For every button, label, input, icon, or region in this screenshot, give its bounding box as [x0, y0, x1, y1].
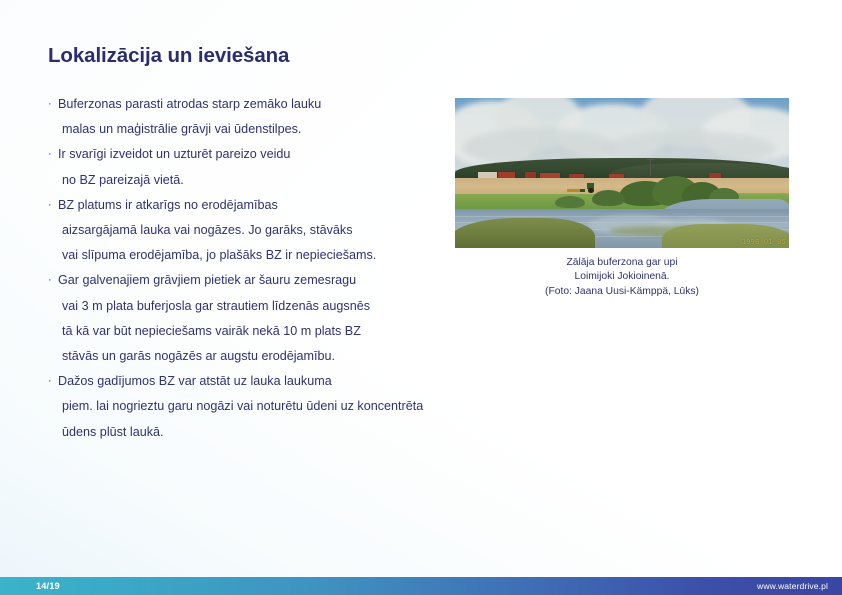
- photo-utility-pole: [650, 158, 651, 176]
- bullet-group: ·BZ platums ir atkarīgs no erodējamības …: [48, 193, 448, 269]
- presentation-slide: Lokalizācija un ieviešana ·Buferzonas pa…: [0, 0, 842, 595]
- bullet-dot-icon: ·: [48, 92, 58, 117]
- bullet-dot-icon: ·: [48, 369, 58, 394]
- bullet-text: Gar galvenajiem grāvjiem pietiek ar šaur…: [58, 273, 356, 287]
- landscape-photo: 1996 01 05: [455, 98, 789, 248]
- photo-caption: Zālāja buferzona gar upi Loimijoki Jokio…: [455, 256, 789, 299]
- caption-line: Loimijoki Jokioinenā.: [455, 270, 789, 284]
- bullet-line: ·BZ platums ir atkarīgs no erodējamības: [48, 193, 448, 218]
- bullet-list: ·Buferzonas parasti atrodas starp zemāko…: [48, 92, 448, 445]
- photo-tractor-front: [580, 189, 585, 192]
- bullet-line-continuation: stāvās un garās nogāzēs ar augstu erodēj…: [48, 344, 448, 369]
- bullet-line: ·Dažos gadījumos BZ var atstāt uz lauka …: [48, 369, 448, 394]
- slide-number: 14/19: [36, 581, 60, 591]
- bullet-dot-icon: ·: [48, 193, 58, 218]
- caption-line: Zālāja buferzona gar upi: [455, 256, 789, 270]
- photo-shrub: [555, 196, 585, 208]
- bullet-text: Dažos gadījumos BZ var atstāt uz lauka l…: [58, 374, 332, 388]
- bullet-line-continuation: tā kā var būt nepieciešams vairāk nekā 1…: [48, 319, 448, 344]
- bullet-group: ·Dažos gadījumos BZ var atstāt uz lauka …: [48, 369, 448, 445]
- photo-date-stamp: 1996 01 05: [742, 238, 786, 246]
- photo-tractor: [580, 183, 594, 193]
- bullet-group: ·Gar galvenajiem grāvjiem pietiek ar šau…: [48, 268, 448, 369]
- bullet-line: ·Buferzonas parasti atrodas starp zemāko…: [48, 92, 448, 117]
- bullet-line: ·Ir svarīgi izveidot un uzturēt pareizo …: [48, 142, 448, 167]
- bullet-text: BZ platums ir atkarīgs no erodējamības: [58, 198, 278, 212]
- bullet-text: Buferzonas parasti atrodas starp zemāko …: [58, 97, 321, 111]
- photo-shrub: [592, 190, 625, 207]
- footer-website-link[interactable]: www.waterdrive.pl: [757, 581, 828, 591]
- bullet-group: ·Ir svarīgi izveidot un uzturēt pareizo …: [48, 142, 448, 192]
- bullet-line: ·Gar galvenajiem grāvjiem pietiek ar šau…: [48, 268, 448, 293]
- bullet-group: ·Buferzonas parasti atrodas starp zemāko…: [48, 92, 448, 142]
- slide-content: Lokalizācija un ieviešana ·Buferzonas pa…: [0, 0, 842, 595]
- photo-farm-implement: [567, 189, 580, 193]
- slide-title: Lokalizācija un ieviešana: [48, 44, 289, 68]
- photo-reed-bank: [455, 218, 595, 248]
- bullet-line-continuation: vai slīpuma erodējamība, jo plašāks BZ i…: [48, 243, 448, 268]
- bullet-line-continuation: vai 3 m plata buferjosla gar strautiem l…: [48, 294, 448, 319]
- caption-line: (Foto: Jaana Uusi-Kämppä, Lūks): [455, 285, 789, 299]
- bullet-line-continuation: piem. lai nogrieztu garu nogāzi vai notu…: [48, 394, 448, 419]
- bullet-line-continuation: ūdens plūst laukā.: [48, 420, 448, 445]
- bullet-dot-icon: ·: [48, 142, 58, 167]
- bullet-line-continuation: malas un maģistrālie grāvji vai ūdenstil…: [48, 117, 448, 142]
- photo-container: 1996 01 05: [455, 98, 789, 248]
- bullet-line-continuation: aizsargājamā lauka vai nogāzes. Jo garāk…: [48, 218, 448, 243]
- bullet-dot-icon: ·: [48, 268, 58, 293]
- photo-tractor-wheel: [588, 188, 594, 193]
- slide-footer: 14/19 www.waterdrive.pl: [0, 577, 842, 595]
- bullet-line-continuation: no BZ pareizajā vietā.: [48, 168, 448, 193]
- bullet-text: Ir svarīgi izveidot un uzturēt pareizo v…: [58, 147, 290, 161]
